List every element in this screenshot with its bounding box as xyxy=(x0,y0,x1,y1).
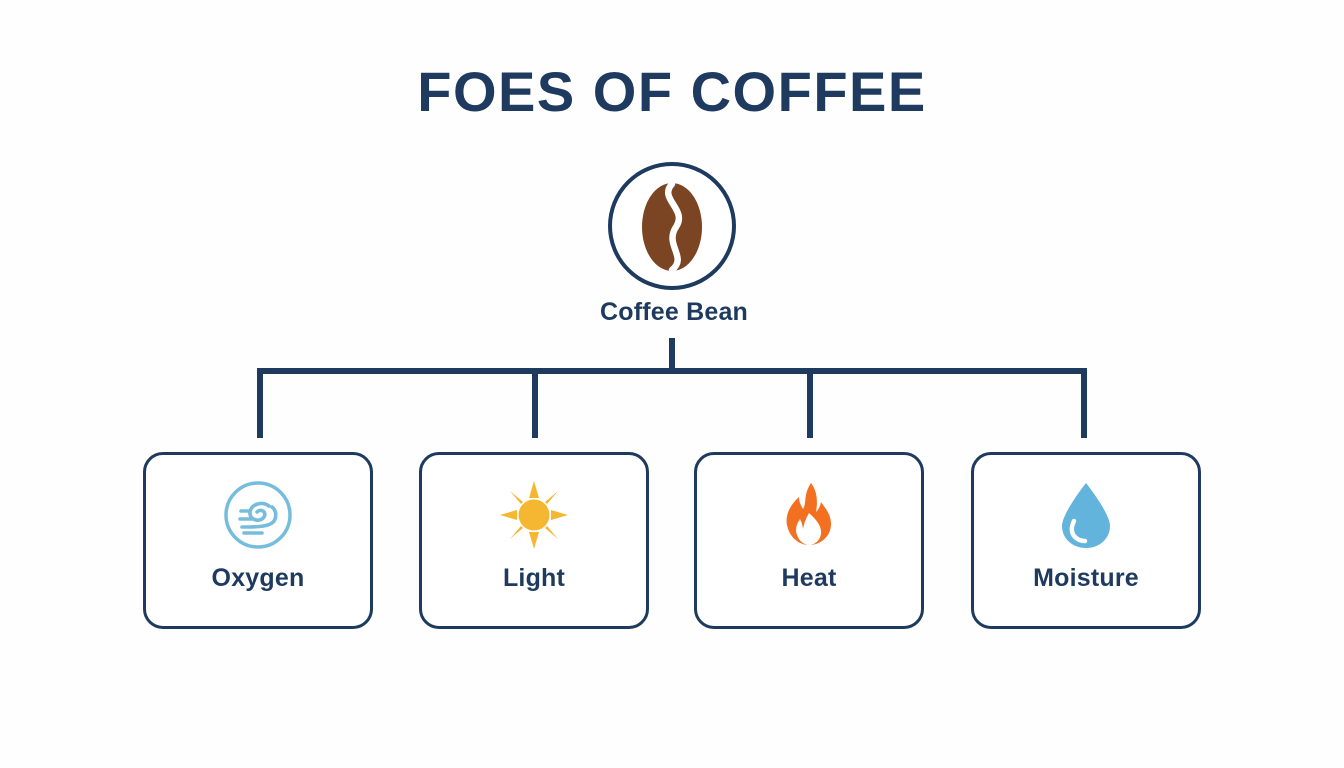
coffee-bean-icon xyxy=(638,181,706,273)
foes-card-row: Oxygen Li xyxy=(143,452,1201,629)
card-moisture[interactable]: Moisture xyxy=(971,452,1201,629)
card-light[interactable]: Light xyxy=(419,452,649,629)
page-title: FOES OF COFFEE xyxy=(0,64,1344,120)
sun-icon xyxy=(498,479,570,551)
card-label-oxygen: Oxygen xyxy=(212,564,305,593)
water-droplet-icon xyxy=(1050,479,1122,551)
card-label-light: Light xyxy=(503,564,565,593)
card-oxygen[interactable]: Oxygen xyxy=(143,452,373,629)
card-heat[interactable]: Heat xyxy=(694,452,924,629)
root-node-label: Coffee Bean xyxy=(474,298,874,327)
card-label-heat: Heat xyxy=(782,564,837,593)
root-node-coffee-bean[interactable] xyxy=(608,162,736,290)
flame-icon xyxy=(773,479,845,551)
oxygen-swirl-icon xyxy=(222,479,294,551)
card-label-moisture: Moisture xyxy=(1033,564,1139,593)
diagram-canvas: FOES OF COFFEE Coffee Bean xyxy=(0,0,1344,768)
